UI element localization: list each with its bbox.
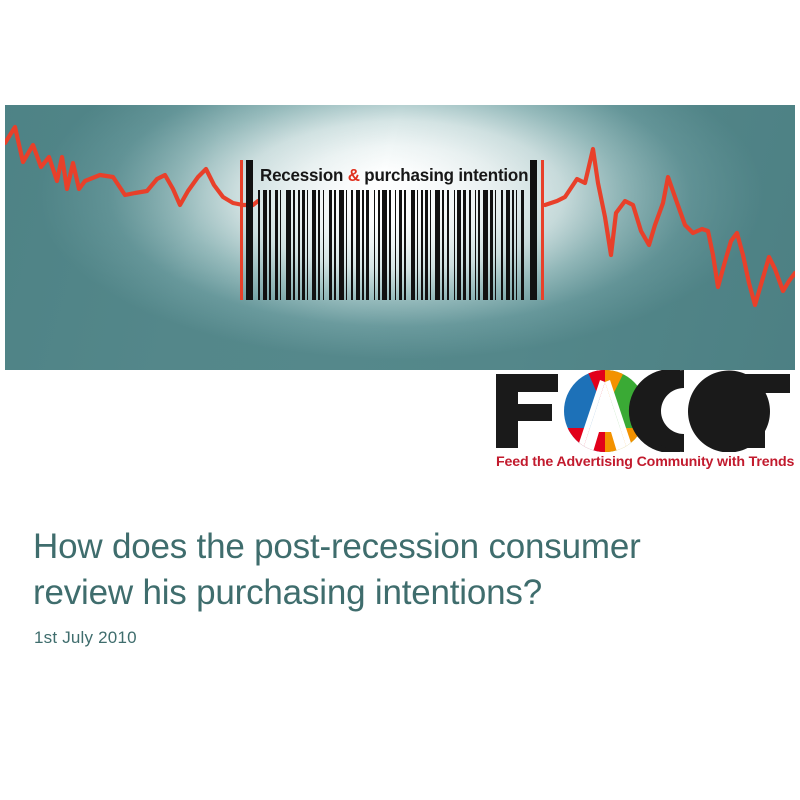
barcode-bar (286, 190, 291, 300)
fact-wordmark (492, 370, 794, 452)
barcode-left-guard-bar (246, 160, 253, 300)
barcode-bar (411, 190, 415, 300)
barcode-bar (362, 190, 364, 300)
barcode-bar (447, 190, 449, 300)
barcode-bar (312, 190, 316, 300)
barcode-bar (399, 190, 402, 300)
barcode-bar (307, 190, 308, 300)
barcode-bar (454, 190, 455, 300)
barcode-bar (389, 190, 391, 300)
barcode-title-text: Recession & purchasing intention (260, 162, 522, 188)
barcode-bar (378, 190, 380, 300)
barcode-bar (435, 190, 440, 300)
barcode-bar (346, 190, 347, 300)
barcode-bar (366, 190, 369, 300)
barcode-bar (356, 190, 360, 300)
barcode-bar (339, 190, 344, 300)
barcode-bar (269, 190, 271, 300)
barcode-bar (374, 190, 375, 300)
barcode-bar (318, 190, 320, 300)
barcode-bar (516, 190, 517, 300)
barcode-bar (395, 190, 396, 300)
barcode-title-prefix: Recession (260, 165, 348, 185)
barcode-bar (457, 190, 461, 300)
barcode-bar (329, 190, 332, 300)
barcode-bar (323, 190, 324, 300)
barcode-bar (521, 190, 524, 300)
barcode-bar (483, 190, 488, 300)
barcode-left-red-rule (240, 160, 243, 300)
barcode-bar (501, 190, 503, 300)
recession-banner: Recession & purchasing intention (5, 105, 795, 370)
barcode-bar (506, 190, 510, 300)
barcode-bar (334, 190, 336, 300)
barcode-bar (280, 190, 281, 300)
page-title-line-2: review his purchasing intentions? (33, 570, 753, 616)
barcode-bar (404, 190, 406, 300)
barcode-bar (478, 190, 480, 300)
barcode-bar (490, 190, 493, 300)
barcode-bar (258, 190, 260, 300)
fact-logo: Feed the Advertising Community with Tren… (492, 370, 794, 478)
title-slide: Recession & purchasing intention (0, 0, 800, 800)
barcode-bar (442, 190, 444, 300)
barcode-bar (382, 190, 387, 300)
barcode-bar (430, 190, 431, 300)
barcode-title-suffix: purchasing intention (360, 165, 529, 185)
barcode-bar-pattern (258, 190, 526, 300)
barcode-bar (425, 190, 428, 300)
barcode-bar (475, 190, 476, 300)
page-title: How does the post-recession consumer rev… (33, 524, 753, 616)
barcode-bar (495, 190, 496, 300)
logo-letter-f (496, 374, 558, 448)
barcode-bar (293, 190, 295, 300)
page-title-line-1: How does the post-recession consumer (33, 527, 641, 566)
barcode-bar (351, 190, 353, 300)
barcode-bar (298, 190, 300, 300)
presentation-date: 1st July 2010 (34, 628, 137, 648)
barcode-bar (417, 190, 418, 300)
barcode-bar (421, 190, 423, 300)
fact-tagline: Feed the Advertising Community with Tren… (496, 454, 794, 470)
barcode-title-ampersand: & (348, 165, 360, 185)
barcode-bar (275, 190, 278, 300)
barcode-right-red-rule (541, 160, 544, 300)
barcode-bar (469, 190, 471, 300)
barcode-bar (463, 190, 466, 300)
barcode-bar (263, 190, 267, 300)
barcode-bar (512, 190, 514, 300)
barcode-right-guard-bar (530, 160, 537, 300)
barcode-graphic: Recession & purchasing intention (238, 160, 552, 300)
barcode-bar (302, 190, 305, 300)
